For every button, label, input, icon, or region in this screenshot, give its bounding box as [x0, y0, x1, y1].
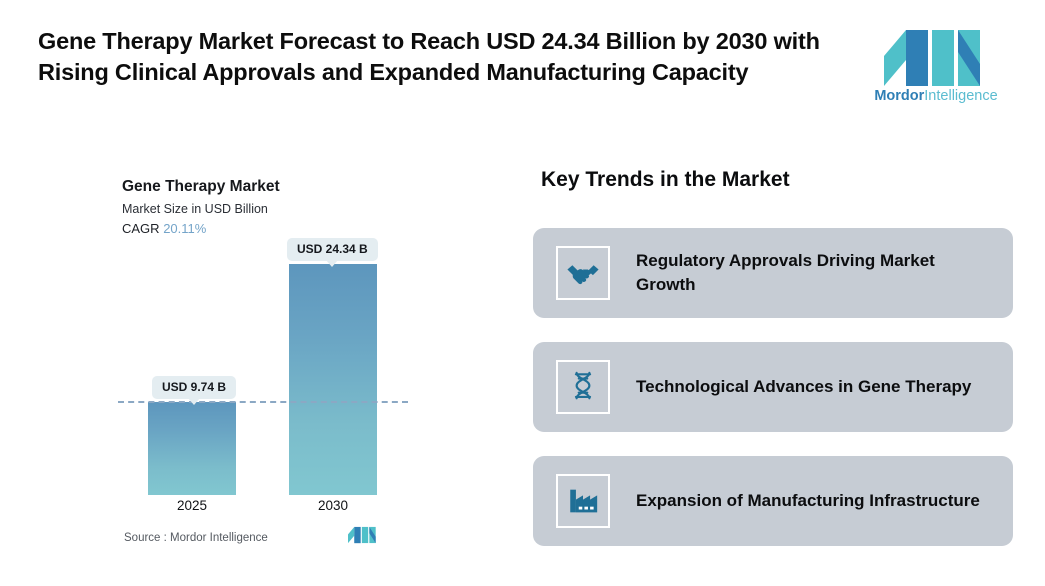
- page-title: Gene Therapy Market Forecast to Reach US…: [38, 26, 838, 88]
- brand-wordmark: MordorIntelligence: [866, 88, 1006, 104]
- bar-2025: [148, 402, 236, 495]
- bar-value-label-2030: USD 24.34 B: [287, 238, 378, 261]
- page-header: Gene Therapy Market Forecast to Reach US…: [0, 0, 1045, 140]
- trend-icon-box: [556, 246, 610, 300]
- key-trends-title: Key Trends in the Market: [541, 168, 790, 192]
- mordor-intelligence-mark-icon: [884, 30, 988, 86]
- reference-dashed-line: [118, 401, 408, 403]
- x-axis-tick-2030: 2030: [289, 498, 377, 513]
- brand-word-mordor: Mordor: [874, 88, 924, 104]
- bar-2030: [289, 264, 377, 495]
- key-trends-panel: Key Trends in the Market Regulatory Appr…: [533, 150, 1013, 570]
- factory-icon: [566, 484, 600, 518]
- handshake-icon: [566, 256, 600, 290]
- chart-source-label: Source : Mordor Intelligence: [124, 532, 268, 544]
- brand-word-intelligence: Intelligence: [924, 88, 997, 104]
- trend-card-technological-advances[interactable]: Technological Advances in Gene Therapy: [533, 342, 1013, 432]
- brand-logo: MordorIntelligence: [866, 30, 1006, 112]
- bar-chart-plot-area: USD 9.74 B USD 24.34 B 2025 2030: [0, 150, 500, 570]
- trend-label: Regulatory Approvals Driving Market Grow…: [636, 249, 995, 297]
- bar-value-label-2025: USD 9.74 B: [152, 376, 236, 399]
- trend-card-regulatory-approvals[interactable]: Regulatory Approvals Driving Market Grow…: [533, 228, 1013, 318]
- trend-label: Technological Advances in Gene Therapy: [636, 375, 971, 399]
- trend-label: Expansion of Manufacturing Infrastructur…: [636, 489, 980, 513]
- dna-helix-icon: [566, 370, 600, 404]
- trend-icon-box: [556, 360, 610, 414]
- x-axis-tick-2025: 2025: [148, 498, 236, 513]
- trend-card-manufacturing-expansion[interactable]: Expansion of Manufacturing Infrastructur…: [533, 456, 1013, 546]
- trend-icon-box: [556, 474, 610, 528]
- chart-panel: Gene Therapy Market Market Size in USD B…: [0, 150, 500, 570]
- source-mordor-mark-icon: [348, 526, 378, 544]
